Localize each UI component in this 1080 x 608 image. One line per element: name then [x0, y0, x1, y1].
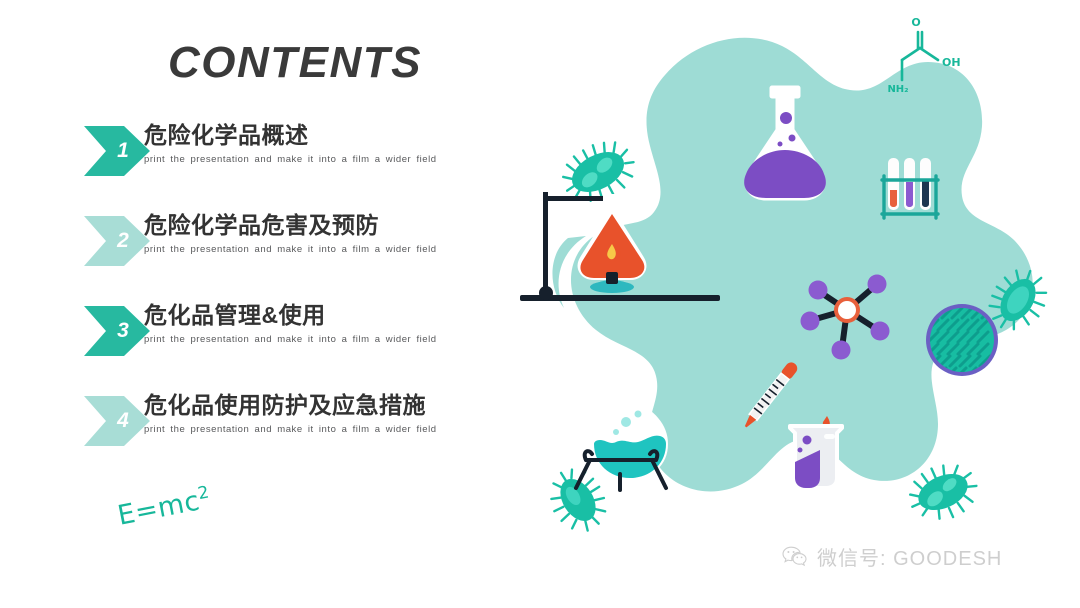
list-item-subtitle: print the presentation and make it into …: [144, 334, 504, 345]
einstein-formula: E=mc2: [115, 482, 214, 531]
formula-label-o: O: [911, 16, 920, 29]
list-item-text: 危险化学品危害及预防 print the presentation and ma…: [144, 210, 504, 255]
list-item-text: 危化品使用防护及应急措施 print the presentation and …: [144, 390, 504, 435]
list-item-subtitle: print the presentation and make it into …: [144, 424, 504, 435]
list-item[interactable]: 2 危险化学品危害及预防 print the presentation and …: [0, 210, 500, 300]
wechat-icon: [782, 546, 808, 568]
list-item-subtitle: print the presentation and make it into …: [144, 244, 504, 255]
chevron-badge-icon: 4: [84, 396, 150, 446]
chevron-badge-icon: 3: [84, 306, 150, 356]
list-item-subtitle: print the presentation and make it into …: [144, 154, 504, 165]
chemistry-illustration: O OH NH₂: [490, 0, 1080, 608]
presentation-slide: CONTENTS 1 危险化学品概述 print the presentatio…: [0, 0, 1080, 608]
beaker-purple-icon: [790, 426, 842, 488]
page-title: CONTENTS: [168, 38, 422, 88]
list-item[interactable]: 4 危化品使用防护及应急措施 print the presentation an…: [0, 390, 500, 480]
contents-panel: CONTENTS 1 危险化学品概述 print the presentatio…: [0, 0, 500, 608]
list-item-text: 危险化学品概述 print the presentation and make …: [144, 120, 504, 165]
watermark: 微信号: GOODESH: [782, 542, 1002, 571]
list-item-title: 危险化学品概述: [144, 120, 504, 150]
list-item-title: 危化品使用防护及应急措施: [144, 390, 504, 420]
formula-base: E=mc: [115, 485, 202, 531]
list-item-title: 危险化学品危害及预防: [144, 210, 504, 240]
petri-dish-icon: [926, 304, 998, 378]
formula-label-oh: OH: [942, 56, 961, 69]
watermark-text: 微信号: GOODESH: [817, 542, 1002, 571]
list-item-text: 危化品管理&使用 print the presentation and make…: [144, 300, 504, 345]
chevron-badge-icon: 1: [84, 126, 150, 176]
chevron-badge-icon: 2: [84, 216, 150, 266]
list-item[interactable]: 1 危险化学品概述 print the presentation and mak…: [0, 120, 500, 210]
formula-exponent: 2: [196, 482, 211, 504]
bacteria-bottom-left-icon: [539, 460, 616, 540]
list-item-title: 危化品管理&使用: [144, 300, 504, 330]
list-item[interactable]: 3 危化品管理&使用 print the presentation and ma…: [0, 300, 500, 390]
formula-label-nh2: NH₂: [887, 84, 908, 95]
contents-list: 1 危险化学品概述 print the presentation and mak…: [0, 120, 500, 480]
